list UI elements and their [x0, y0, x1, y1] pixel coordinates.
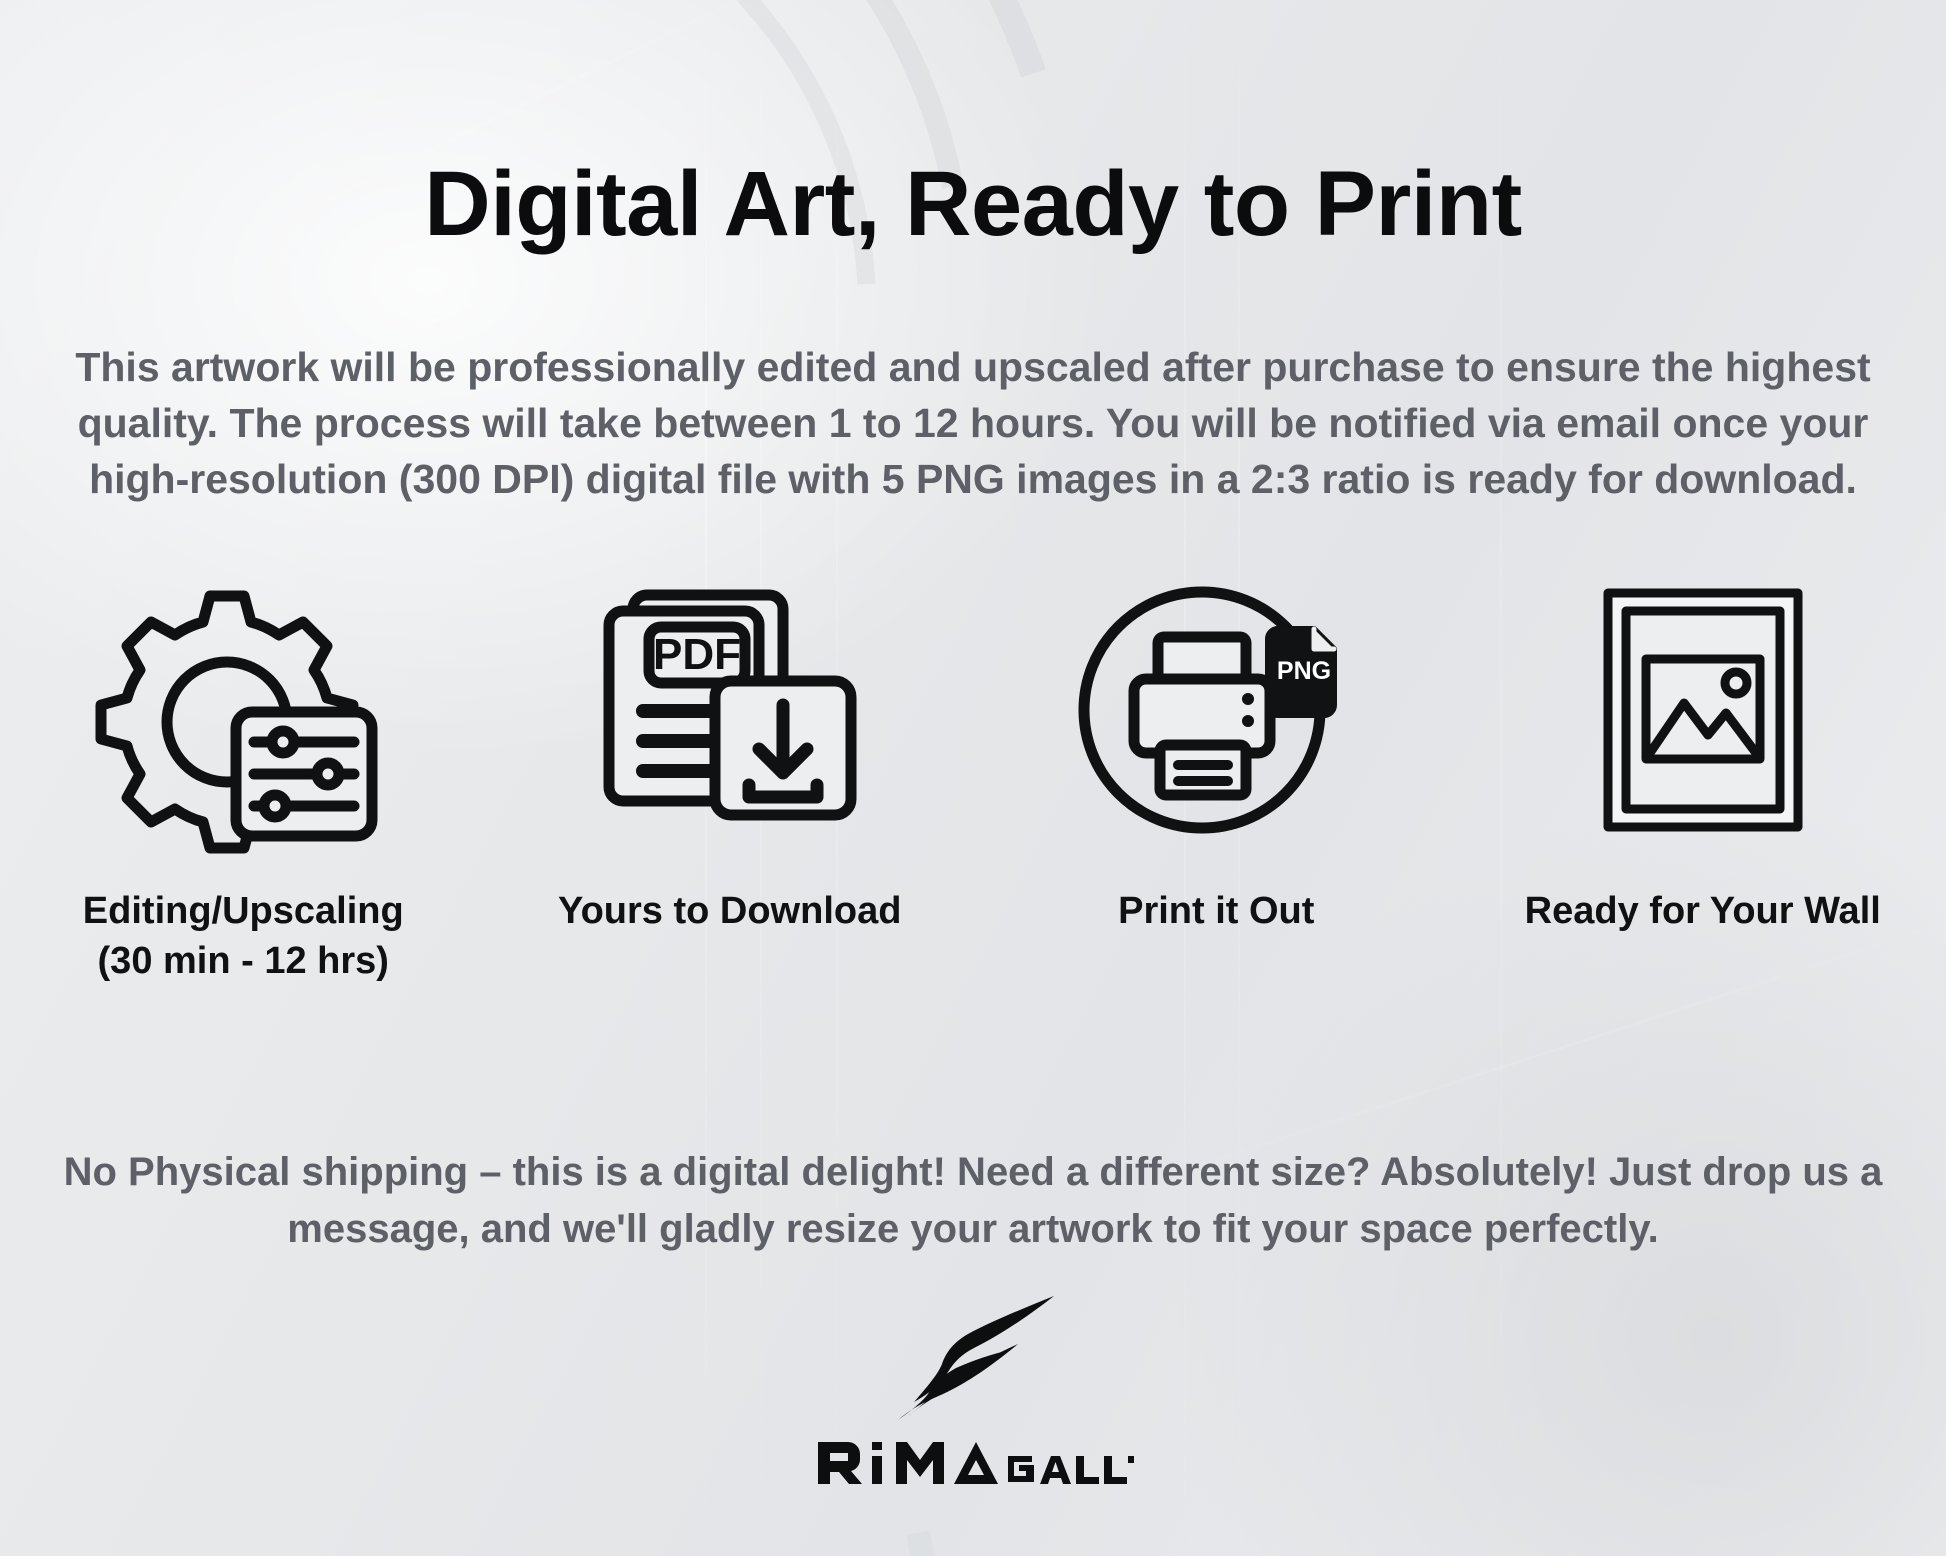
brand-logo [812, 1288, 1134, 1490]
feature-item-print: PNG Print it Out [973, 560, 1460, 986]
feature-item-editing-upscaling: Editing/Upscaling (30 min - 12 hrs) [0, 560, 487, 986]
rima-swoosh-mark [858, 1288, 1088, 1428]
feature-row: Editing/Upscaling (30 min - 12 hrs) PDF [0, 560, 1946, 986]
intro-paragraph: This artwork will be professionally edit… [68, 339, 1878, 507]
feature-item-download: PDF Yours to Download [487, 560, 974, 986]
printer-circle-icon: PNG [1082, 560, 1350, 860]
feature-label-editing-upscaling: Editing/Upscaling (30 min - 12 hrs) [83, 886, 404, 986]
framed-picture-icon [1598, 560, 1808, 860]
feature-item-wall: Ready for Your Wall [1460, 560, 1946, 986]
feature-label-wall: Ready for Your Wall [1525, 886, 1881, 936]
gear-sliders-icon [98, 560, 388, 860]
png-badge-text: PNG [1277, 657, 1331, 685]
promo-graphic: Digital Art, Ready to Print This artwork… [0, 0, 1946, 1556]
pdf-download-icon: PDF [599, 560, 861, 860]
outro-paragraph: No Physical shipping – this is a digital… [58, 1144, 1888, 1258]
feature-label-print: Print it Out [1118, 886, 1314, 936]
pdf-badge-text: PDF [653, 630, 741, 679]
page-title: Digital Art, Ready to Print [0, 158, 1946, 250]
feature-label-download: Yours to Download [558, 886, 901, 936]
logo-wordmark [812, 1436, 1134, 1490]
